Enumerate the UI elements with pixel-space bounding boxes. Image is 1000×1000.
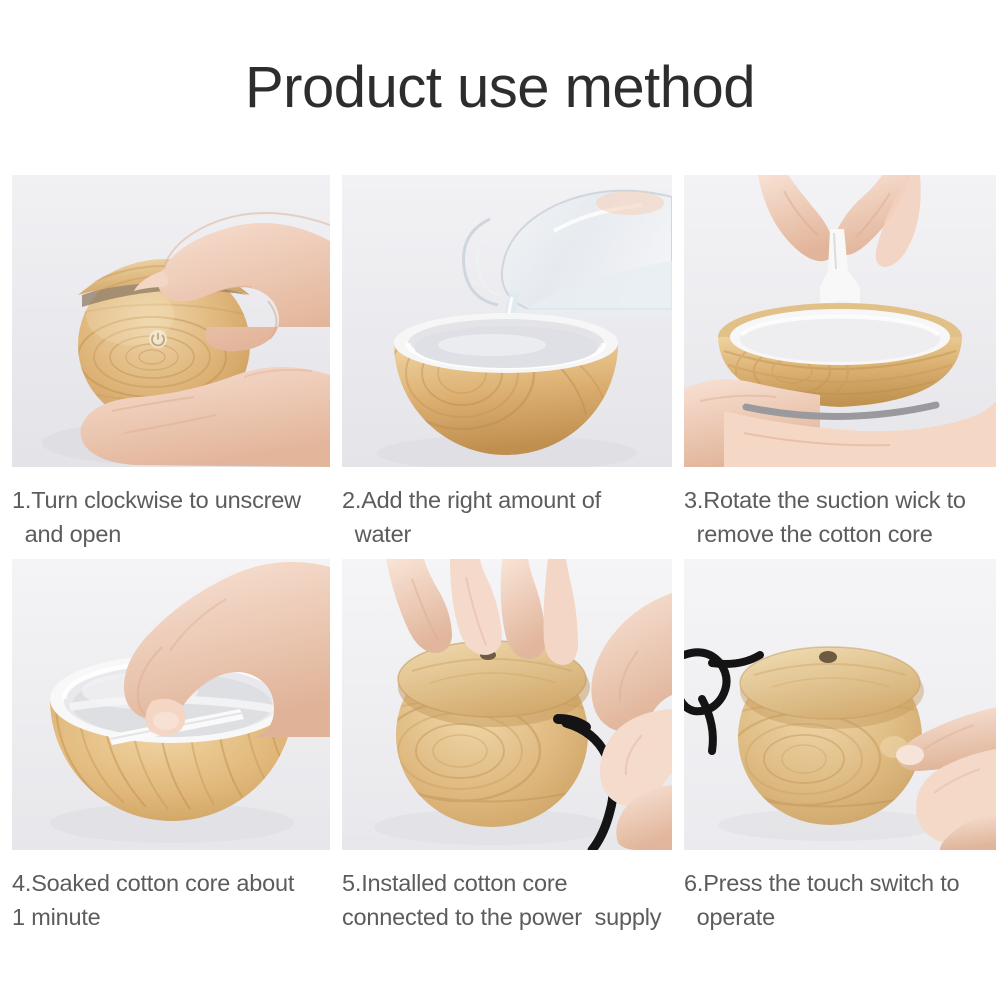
step-photo-2: [342, 175, 672, 467]
step-caption-2: 2.Add the right amount of water: [342, 483, 672, 551]
step-photo-3: [684, 175, 996, 467]
page-title: Product use method: [0, 56, 1000, 120]
steps-grid: 1.Turn clockwise to unscrew and open: [12, 175, 990, 934]
step-card-5: 5.Installed cotton core connected to the…: [342, 559, 672, 934]
step-card-6: 6.Press the touch switch to operate: [684, 559, 996, 934]
step-caption-4: 4.Soaked cotton core about 1 minute: [12, 866, 330, 934]
step-caption-3: 3.Rotate the suction wick to remove the …: [684, 483, 996, 551]
step-card-4: 4.Soaked cotton core about 1 minute: [12, 559, 330, 934]
power-button-icon: [149, 330, 167, 348]
step-card-3: 3.Rotate the suction wick to remove the …: [684, 175, 996, 551]
step-photo-6: [684, 559, 996, 850]
mist-outlet-hole: [819, 651, 837, 663]
step-caption-5: 5.Installed cotton core connected to the…: [342, 866, 672, 934]
step-photo-1: [12, 175, 330, 467]
step-caption-6: 6.Press the touch switch to operate: [684, 866, 996, 934]
step-caption-1: 1.Turn clockwise to unscrew and open: [12, 483, 330, 551]
step-card-1: 1.Turn clockwise to unscrew and open: [12, 175, 330, 551]
step-photo-5: [342, 559, 672, 850]
humidifier-lid: [740, 647, 924, 729]
product-instruction-infographic: Product use method: [0, 0, 1000, 1000]
step-card-2: 2.Add the right amount of water: [342, 175, 672, 551]
step-photo-4: [12, 559, 330, 850]
